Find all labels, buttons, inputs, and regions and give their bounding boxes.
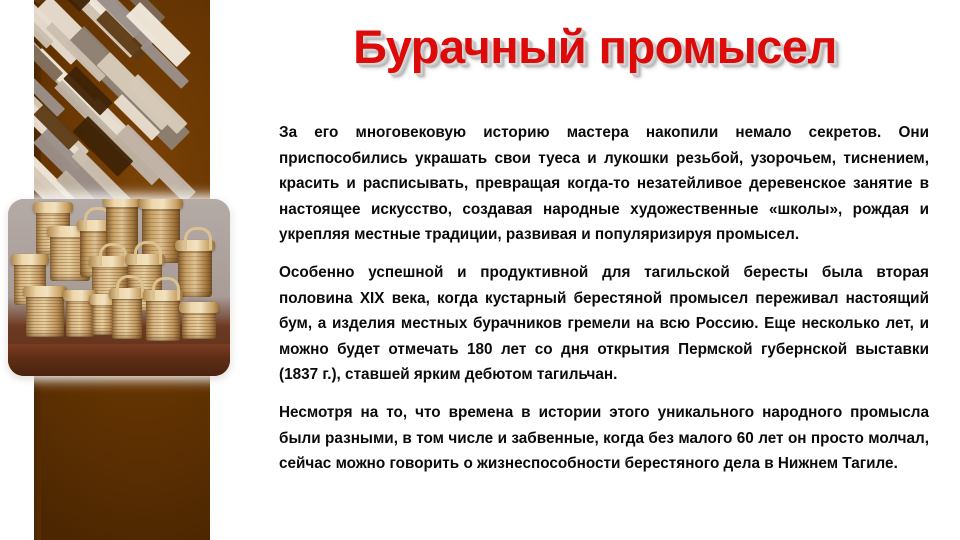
photo-shelf <box>8 344 230 376</box>
page-title: Бурачный промысел <box>240 22 950 71</box>
body-text-block: За его многовековую историю мастера нако… <box>279 120 929 477</box>
paragraph-2: Особенно успешной и продуктивной для таг… <box>279 260 929 388</box>
birch-bark-vessel <box>178 247 212 297</box>
paragraph-1: За его многовековую историю мастера нако… <box>279 120 929 248</box>
paragraph-3: Несмотря на то, что времена в истории эт… <box>279 400 929 477</box>
slide-canvas: Бурачный промысел За его многовековую ис… <box>0 0 960 540</box>
photo-image <box>8 199 230 376</box>
birch-bark-vessel <box>92 301 114 335</box>
birch-bark-vessel <box>146 297 180 341</box>
birch-bark-vessel <box>182 309 216 339</box>
birch-bark-vessel <box>26 293 64 337</box>
birch-bark-vessel <box>112 295 142 339</box>
photo-content <box>8 199 230 376</box>
